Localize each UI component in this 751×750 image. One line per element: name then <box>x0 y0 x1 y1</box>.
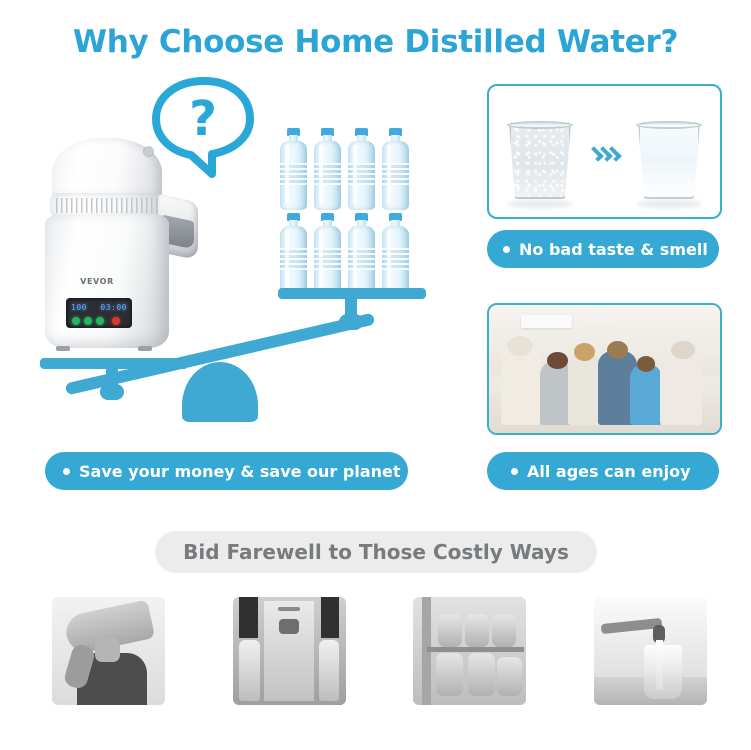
scale-knob-left <box>100 384 124 400</box>
water-bottle <box>380 213 411 295</box>
triple-chevron-right-icon <box>592 147 618 161</box>
benefit-pill-money: Save your money & save our planet <box>45 452 408 490</box>
water-bottle <box>278 128 309 210</box>
infographic-root: Why Choose Home Distilled Water? ? VEVOR… <box>0 0 751 750</box>
water-bottle <box>346 213 377 295</box>
distiller-knob-icon <box>144 147 153 156</box>
bottle-body <box>382 226 409 295</box>
distiller-lid <box>52 138 162 200</box>
water-bottle <box>346 128 377 210</box>
water-comparison-panel <box>487 84 722 219</box>
photo-stacked-water-jugs <box>413 597 526 705</box>
person-grandfather-head <box>507 336 532 356</box>
water-jug <box>438 614 462 646</box>
page-title: Why Choose Home Distilled Water? <box>0 24 751 60</box>
benefit-pill-taste: No bad taste & smell <box>487 230 719 268</box>
bottle-body <box>348 141 375 210</box>
bullet-dot-icon <box>503 246 510 253</box>
machine-panel <box>264 601 314 700</box>
water-bottle <box>312 213 343 295</box>
glass-bottle-right <box>319 640 339 700</box>
question-mark-glyph: ? <box>189 91 217 147</box>
bottle-body <box>382 141 409 210</box>
photo-wall-unit-2 <box>581 313 613 323</box>
vent-slats <box>56 198 158 213</box>
person-boy <box>630 364 662 425</box>
machine-shadow-left <box>239 597 257 638</box>
machine-slot <box>278 607 301 611</box>
cloudy-glass-cup <box>509 123 571 199</box>
person-boy-head <box>637 356 655 371</box>
bottle-body <box>348 226 375 295</box>
bottle-body <box>314 141 341 210</box>
benefit-pill-taste-label: No bad taste & smell <box>519 240 708 259</box>
benefit-pill-ages-label: All ages can enjoy <box>527 462 691 481</box>
person-grandfather <box>501 346 540 425</box>
cloudy-glass-shadow <box>507 200 573 208</box>
water-bottle <box>380 128 411 210</box>
water-jug <box>497 657 522 696</box>
cloudy-water-glass <box>505 119 575 203</box>
photo-strip <box>52 597 707 705</box>
person-grandmother-head <box>671 341 694 359</box>
water-bottle <box>278 213 309 295</box>
water-jug <box>436 653 463 696</box>
scale-base <box>188 408 252 422</box>
person-girl-head <box>547 352 568 369</box>
bottle-row-top <box>278 128 414 210</box>
water-jug <box>465 614 489 646</box>
benefit-pill-money-label: Save your money & save our planet <box>79 462 401 481</box>
photo-wall-unit <box>521 315 572 328</box>
drinking-glass <box>644 645 682 699</box>
bottled-water-group <box>278 128 414 301</box>
person-man-head <box>607 341 628 359</box>
water-jug <box>492 614 516 646</box>
shelf-board <box>427 647 524 652</box>
person-grandmother <box>660 351 702 425</box>
person-woman <box>568 354 603 426</box>
clear-glass-cup <box>638 123 700 199</box>
clear-glass-rim <box>636 121 702 129</box>
family-photo-panel <box>487 303 722 435</box>
bullet-dot-icon <box>63 468 70 475</box>
photo-man-carrying-jug <box>52 597 165 705</box>
cloudy-glass-rim <box>507 121 573 129</box>
bottle-body <box>280 226 307 295</box>
photo-tap-filling-glass <box>594 597 707 705</box>
water-jug <box>468 653 495 696</box>
water-stream <box>656 640 663 690</box>
clear-glass-shadow <box>636 200 702 208</box>
bullet-dot-icon <box>511 468 518 475</box>
glass-bottle-left <box>239 640 259 700</box>
family-photo-image <box>489 305 720 433</box>
benefit-pill-ages: All ages can enjoy <box>487 452 719 490</box>
machine-shadow-right <box>321 597 339 638</box>
bottle-row-bottom <box>278 213 414 295</box>
balance-scale-icon <box>40 290 415 422</box>
section-banner-label: Bid Farewell to Those Costly Ways <box>183 540 569 564</box>
bottle-body <box>280 141 307 210</box>
clear-water-glass <box>634 119 704 203</box>
section-banner: Bid Farewell to Those Costly Ways <box>155 531 597 573</box>
person-hand <box>95 638 120 662</box>
water-bottle <box>312 128 343 210</box>
photo-water-vending-machine <box>233 597 346 705</box>
machine-display <box>279 619 299 634</box>
brand-logo: VEVOR <box>74 277 120 286</box>
bottle-body <box>314 226 341 295</box>
